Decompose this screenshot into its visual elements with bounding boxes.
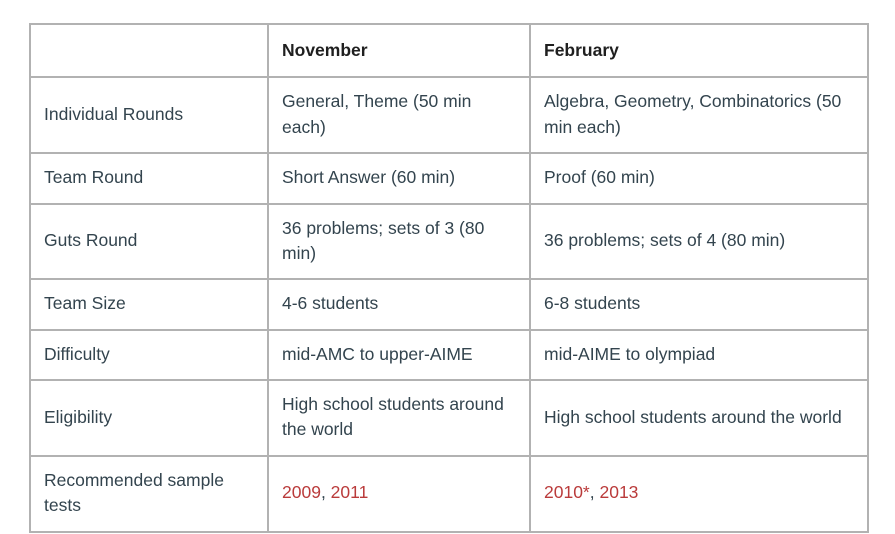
row-label-individual-rounds: Individual Rounds	[30, 77, 268, 153]
column-header-november: November	[268, 24, 530, 77]
cell-team-size-november: 4-6 students	[268, 279, 530, 329]
cell-guts-round-february: 36 problems; sets of 4 (80 min)	[530, 204, 868, 280]
row-label-recommended-sample-tests: Recommended sample tests	[30, 456, 268, 532]
table-row: Individual Rounds General, Theme (50 min…	[30, 77, 868, 153]
comparison-table-wrapper: November February Individual Rounds Gene…	[29, 23, 867, 533]
row-label-team-size: Team Size	[30, 279, 268, 329]
table-row: Recommended sample tests 2009, 2011 2010…	[30, 456, 868, 532]
cell-team-round-november: Short Answer (60 min)	[268, 153, 530, 203]
cell-sample-tests-november: 2009, 2011	[268, 456, 530, 532]
table-header-row: November February	[30, 24, 868, 77]
cell-difficulty-november: mid-AMC to upper-AIME	[268, 330, 530, 380]
cell-individual-rounds-february: Algebra, Geometry, Combinatorics (50 min…	[530, 77, 868, 153]
table-row: Difficulty mid-AMC to upper-AIME mid-AIM…	[30, 330, 868, 380]
competition-comparison-table: November February Individual Rounds Gene…	[29, 23, 869, 533]
page-root: November February Individual Rounds Gene…	[0, 0, 895, 534]
row-label-difficulty: Difficulty	[30, 330, 268, 380]
row-label-eligibility: Eligibility	[30, 380, 268, 456]
table-body: Individual Rounds General, Theme (50 min…	[30, 77, 868, 531]
table-row: Team Size 4-6 students 6-8 students	[30, 279, 868, 329]
sample-test-link-february-1[interactable]: 2010*	[544, 482, 590, 502]
table-header: November February	[30, 24, 868, 77]
cell-individual-rounds-november: General, Theme (50 min each)	[268, 77, 530, 153]
column-header-february: February	[530, 24, 868, 77]
table-row: Guts Round 36 problems; sets of 3 (80 mi…	[30, 204, 868, 280]
cell-team-round-february: Proof (60 min)	[530, 153, 868, 203]
sample-test-link-february-2[interactable]: 2013	[599, 482, 638, 502]
cell-eligibility-february: High school students around the world	[530, 380, 868, 456]
cell-team-size-february: 6-8 students	[530, 279, 868, 329]
cell-eligibility-november: High school students around the world	[268, 380, 530, 456]
table-row: Eligibility High school students around …	[30, 380, 868, 456]
cell-sample-tests-february: 2010*, 2013	[530, 456, 868, 532]
table-row: Team Round Short Answer (60 min) Proof (…	[30, 153, 868, 203]
cell-difficulty-february: mid-AIME to olympiad	[530, 330, 868, 380]
link-separator: ,	[321, 482, 331, 502]
row-label-team-round: Team Round	[30, 153, 268, 203]
cell-guts-round-november: 36 problems; sets of 3 (80 min)	[268, 204, 530, 280]
table-corner-cell	[30, 24, 268, 77]
row-label-guts-round: Guts Round	[30, 204, 268, 280]
sample-test-link-november-2[interactable]: 2011	[331, 482, 369, 502]
sample-test-link-november-1[interactable]: 2009	[282, 482, 321, 502]
